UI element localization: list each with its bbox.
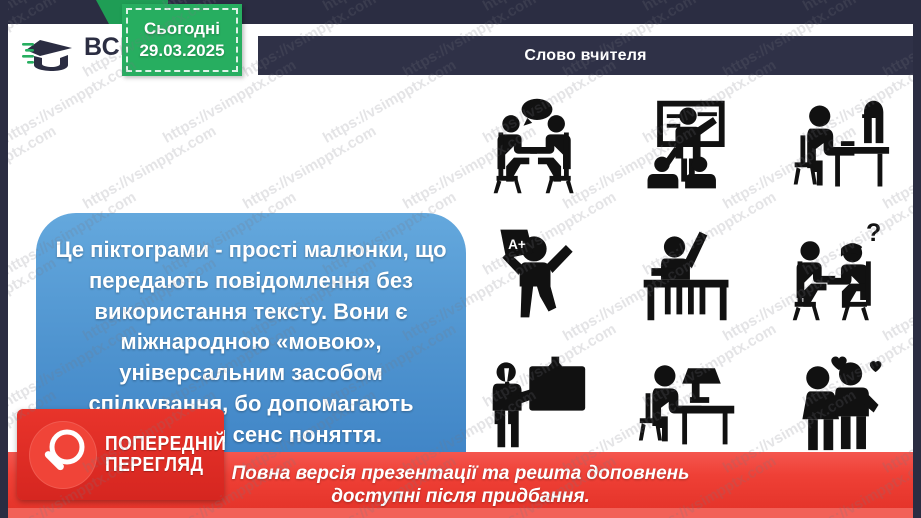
presentation-slide: ВСІМ pptx Сьогодні 29.03.2025 Слово вчит… xyxy=(0,0,921,518)
person-at-desk-lamp-icon xyxy=(613,337,764,464)
slide-left-edge xyxy=(0,0,8,518)
svg-text:?: ? xyxy=(866,220,881,247)
question-conversation-icon: ? xyxy=(763,209,914,336)
preview-badge-line1: ПОПЕРЕДНІЙ xyxy=(105,434,226,454)
purchase-notice-line2: доступні після придбання. xyxy=(331,486,590,508)
couple-with-hearts-icon xyxy=(763,337,914,464)
presenter-at-easel-icon xyxy=(462,337,613,464)
page-title: Слово вчителя xyxy=(524,47,646,65)
footer-strip xyxy=(0,508,921,518)
magnifier-icon xyxy=(29,421,97,489)
teacher-at-board-icon xyxy=(613,82,764,209)
student-raising-hand-icon xyxy=(613,209,764,336)
date-badge: Сьогодні 29.03.2025 xyxy=(122,4,242,76)
preview-badge: ПОПЕРЕДНІЙ ПЕРЕГЛЯД xyxy=(17,409,224,500)
svg-text:A+: A+ xyxy=(508,237,526,252)
pictogram-grid: A+ xyxy=(462,82,914,464)
date-badge-value: 29.03.2025 xyxy=(139,41,224,61)
graduation-cap-icon xyxy=(22,34,78,74)
person-at-computer-icon xyxy=(763,82,914,209)
date-badge-label: Сьогодні xyxy=(144,19,220,39)
two-people-talking-icon xyxy=(462,82,613,209)
student-celebrating-grade-icon: A+ xyxy=(462,209,613,336)
purchase-notice-line1: Повна версія презентації та решта доповн… xyxy=(232,463,690,485)
slide-title-bar: Слово вчителя xyxy=(258,36,913,75)
slide-right-edge xyxy=(913,0,921,518)
preview-badge-line2: ПЕРЕГЛЯД xyxy=(105,455,226,475)
